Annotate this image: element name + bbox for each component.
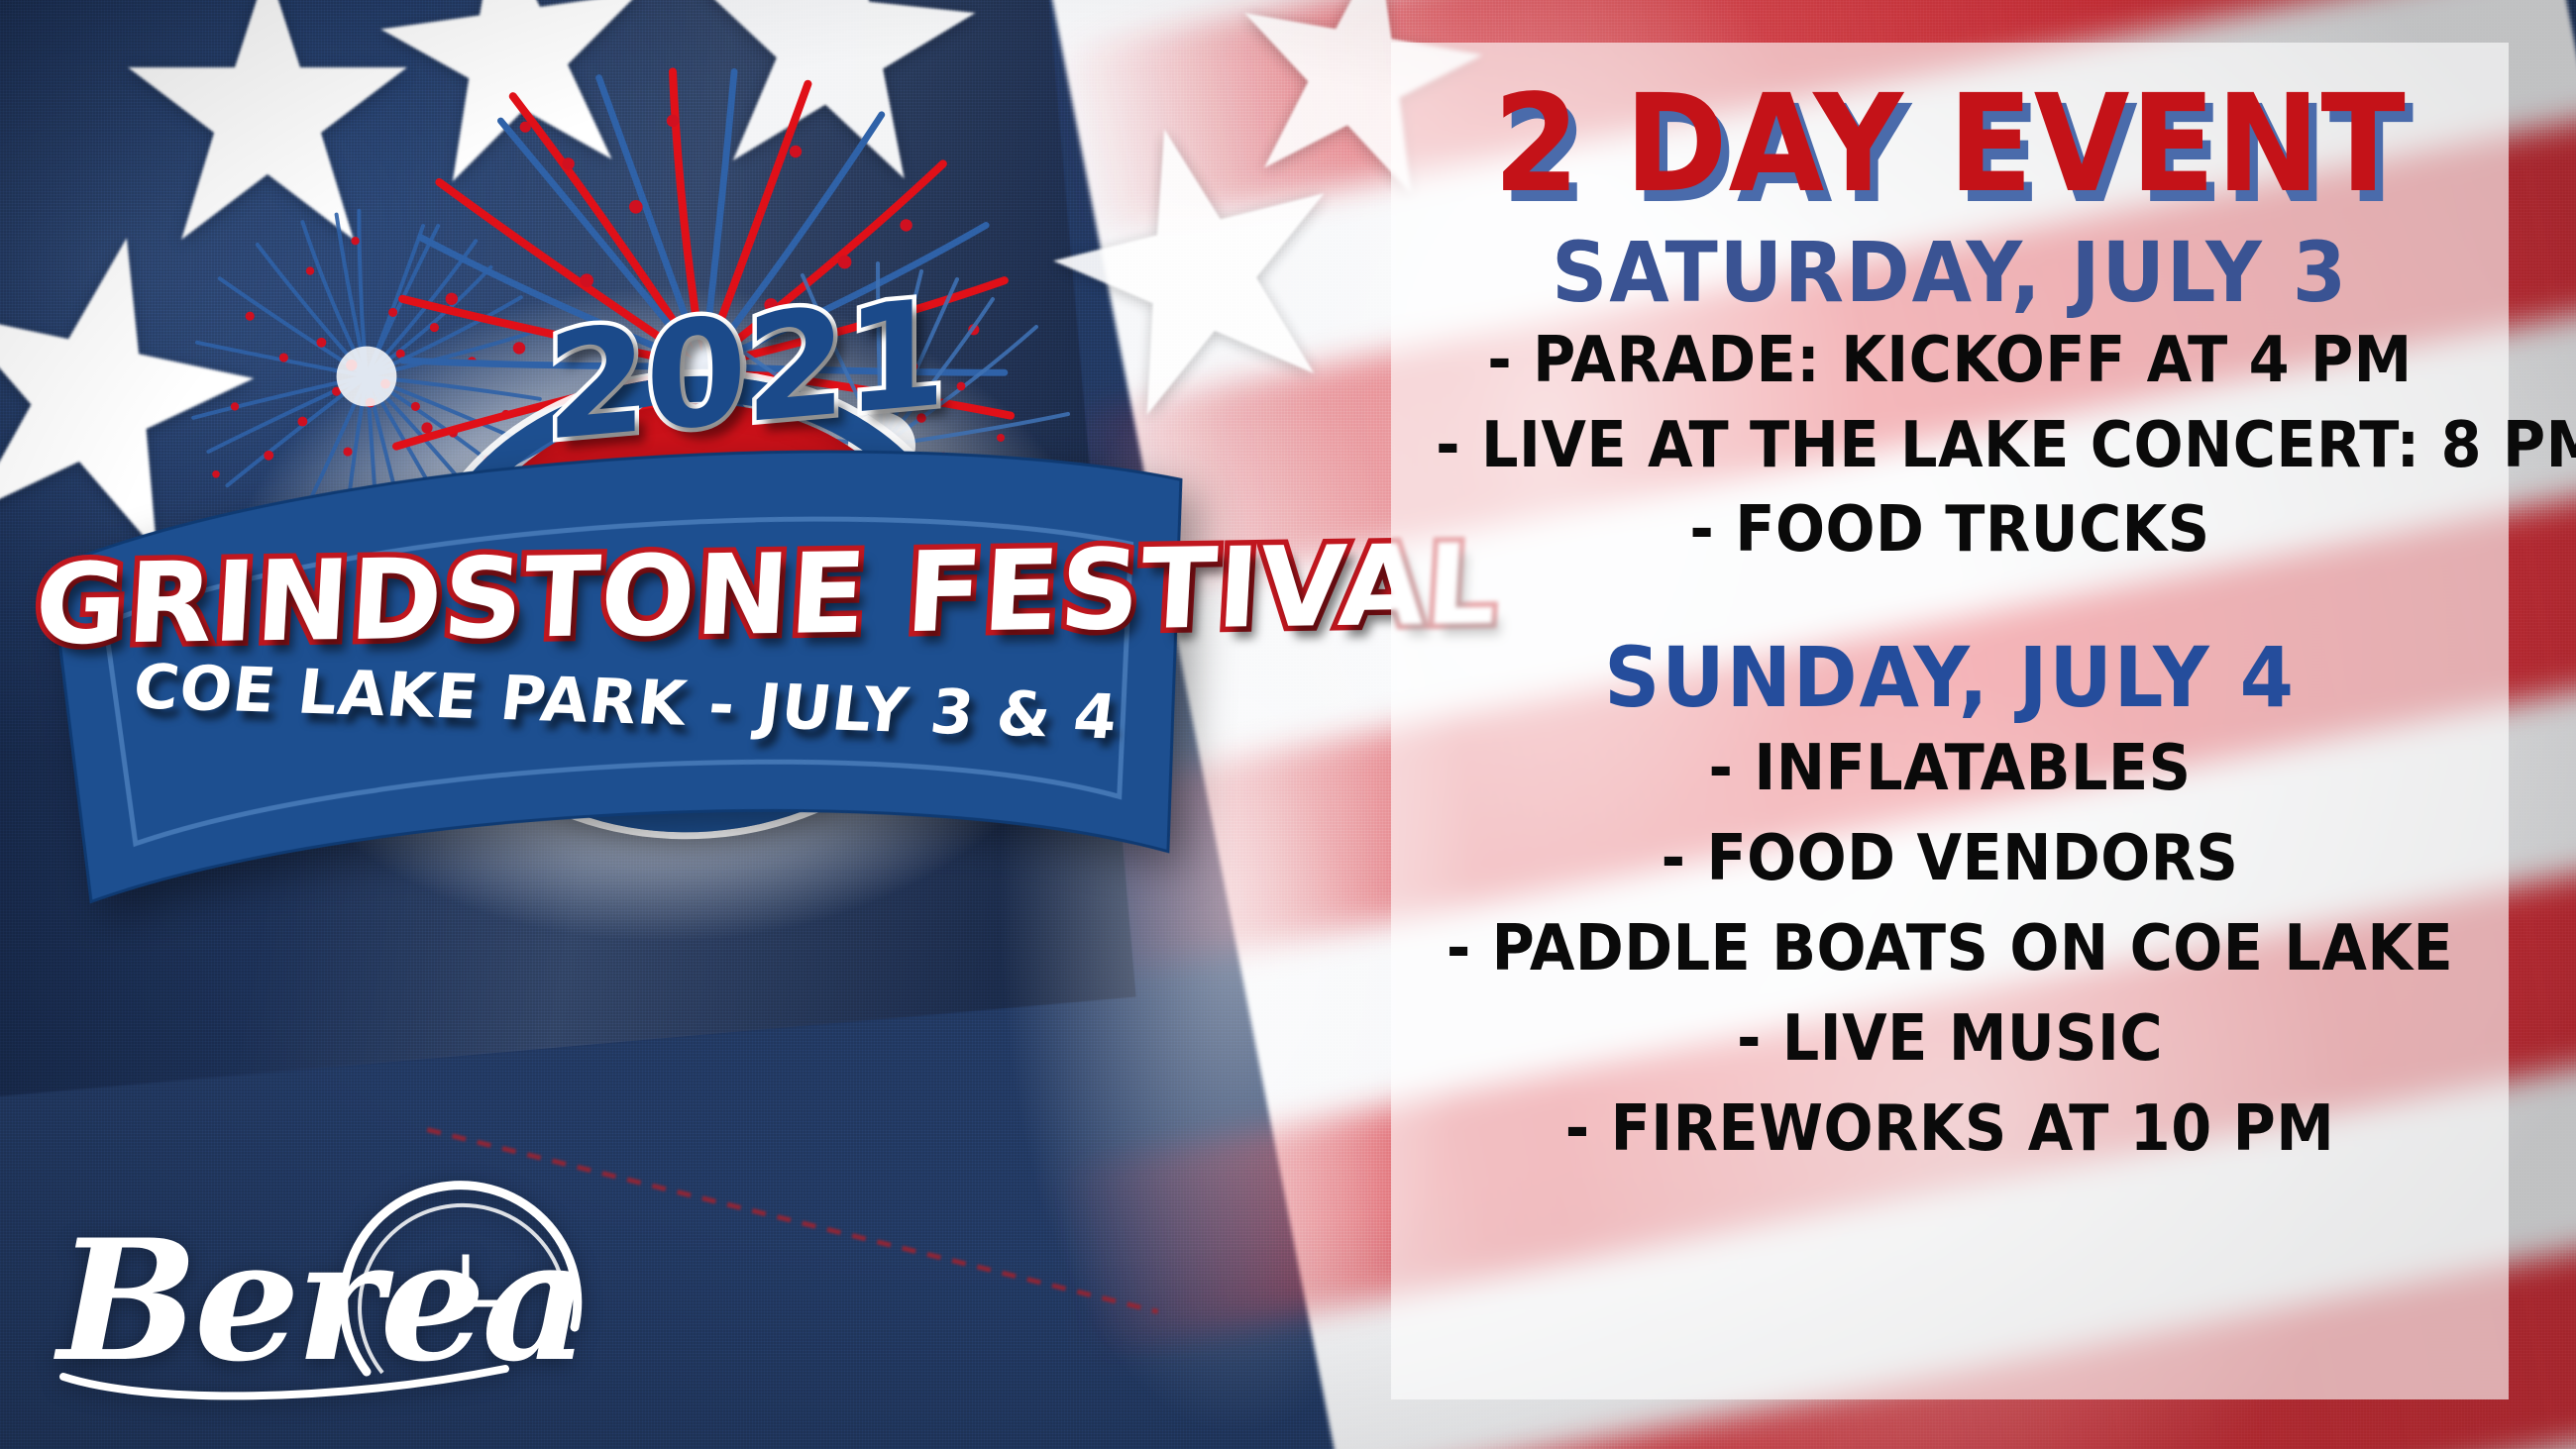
grindstone-festival-logo: 2021 GRINDSTONE FESTIVAL COE LAKE PARK -… <box>30 277 1367 1070</box>
berea-city-logo: Berea <box>40 1139 654 1436</box>
event-info-panel: 2 DAY EVENT SATURDAY, JULY 3 - PARADE: K… <box>1391 43 2509 1399</box>
event-item: - FIREWORKS AT 10 PM <box>1436 1085 2464 1175</box>
event-item: - PARADE: KICKOFF AT 4 PM <box>1436 319 2464 404</box>
event-item: - LIVE MUSIC <box>1436 994 2464 1085</box>
logo-banner-shape <box>28 413 1221 933</box>
day-items-sunday: - INFLATABLES - FOOD VENDORS - PADDLE BO… <box>1391 724 2509 1174</box>
event-item: - FOOD TRUCKS <box>1436 488 2464 573</box>
day-block-sunday: SUNDAY, JULY 4 - INFLATABLES - FOOD VEND… <box>1391 631 2509 1174</box>
event-item: - INFLATABLES <box>1436 724 2464 814</box>
event-item: - FOOD VENDORS <box>1436 814 2464 904</box>
event-item: - PADDLE BOATS ON COE LAKE <box>1436 904 2464 994</box>
event-item: - LIVE AT THE LAKE CONCERT: 8 PM <box>1436 404 2464 489</box>
day-block-saturday: SATURDAY, JULY 3 - PARADE: KICKOFF AT 4 … <box>1391 226 2509 573</box>
day-heading-saturday: SATURDAY, JULY 3 <box>1430 226 2469 319</box>
festival-poster: 2021 GRINDSTONE FESTIVAL COE LAKE PARK -… <box>0 0 2576 1449</box>
day-items-saturday: - PARADE: KICKOFF AT 4 PM - LIVE AT THE … <box>1391 319 2509 573</box>
day-heading-sunday: SUNDAY, JULY 4 <box>1430 631 2469 724</box>
panel-title: 2 DAY EVENT <box>1436 76 2464 214</box>
